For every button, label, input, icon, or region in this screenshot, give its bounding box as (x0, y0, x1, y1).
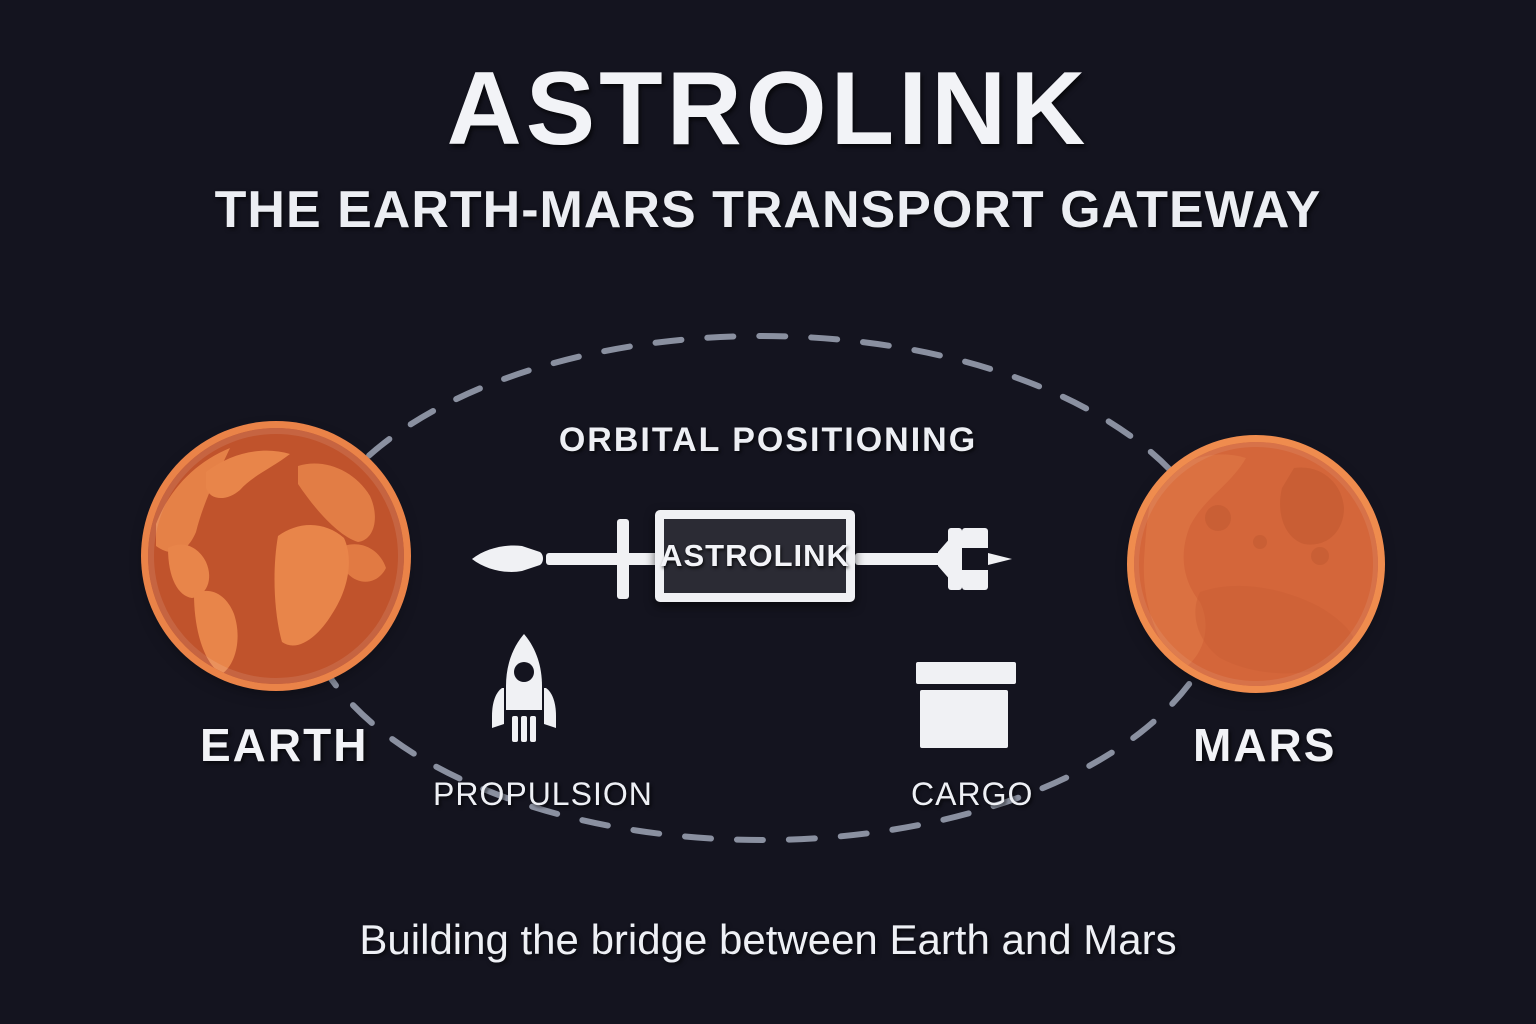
tagline: Building the bridge between Earth and Ma… (0, 916, 1536, 964)
orbital-positioning-label: ORBITAL POSITIONING (0, 421, 1536, 460)
station-name-label: ASTROLINK (660, 538, 850, 574)
propulsion-label: PROPULSION (433, 776, 653, 813)
left-boom-bar (546, 553, 658, 565)
rocket-icon (478, 632, 570, 744)
cargo-container-icon (912, 660, 1020, 752)
poster-canvas: ASTROLINK THE EARTH-MARS TRANSPORT GATEW… (0, 0, 1536, 1024)
probe-nose-icon (472, 546, 543, 572)
docking-clamp-icon (938, 536, 988, 582)
left-boom-cross (617, 519, 629, 599)
cargo-label: CARGO (911, 776, 1033, 813)
station-module-icon[interactable]: ASTROLINK (655, 510, 855, 602)
